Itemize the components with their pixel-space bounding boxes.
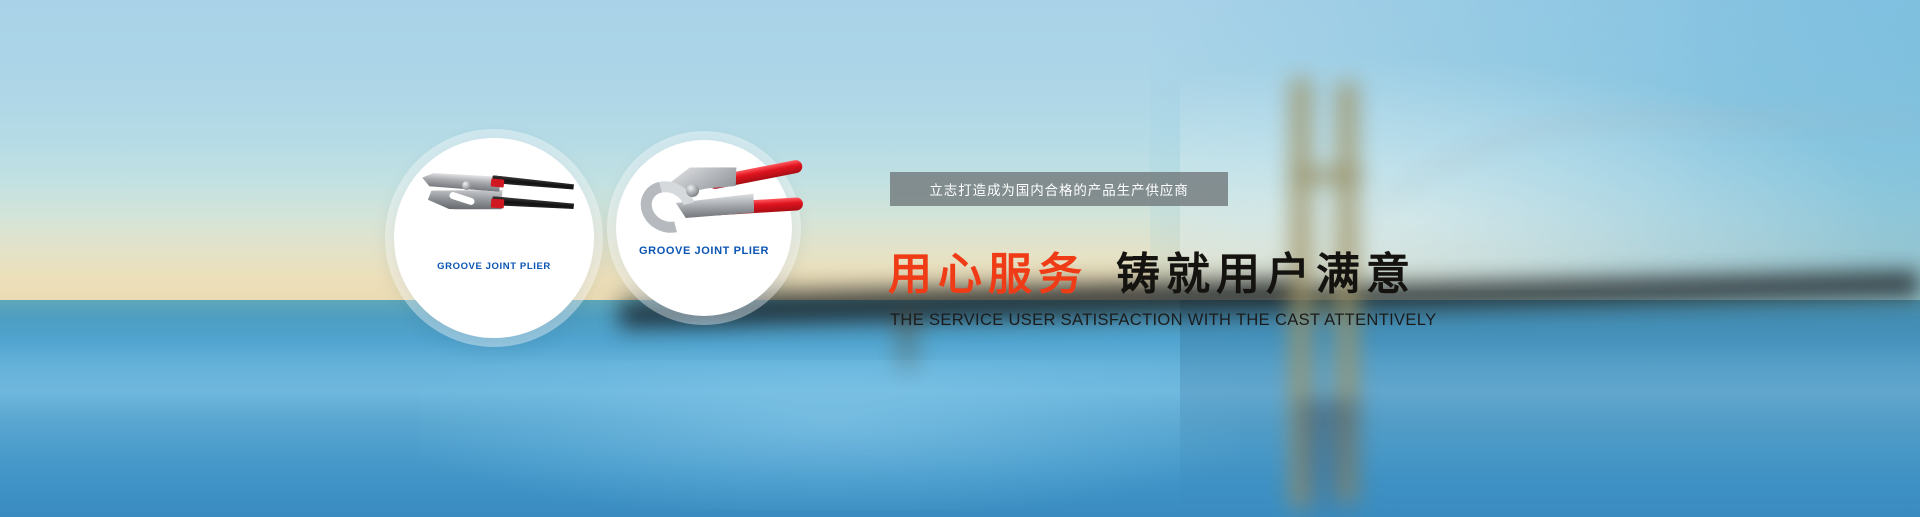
tagline-strip-text: 立志打造成为国内合格的产品生产供应商 (929, 179, 1188, 199)
promotional-banner: GROOVE JOINT PLIER GROOVE JOINT PLIER 立志… (0, 0, 1920, 517)
plier-handle-lower (492, 196, 574, 211)
product-label-2: GROOVE JOINT PLIER (616, 245, 792, 257)
pylon-crossbeam-upper (1290, 168, 1362, 184)
bridge-pier (1298, 400, 1358, 517)
plier-pivot-rivet (686, 184, 699, 197)
plier-pivot-rivet (462, 181, 471, 190)
headline-secondary: 铸就用户满意 (1116, 253, 1416, 297)
headline: 用心服务 铸就用户满意 (888, 253, 1416, 297)
product-circle-2[interactable]: GROOVE JOINT PLIER (616, 140, 792, 316)
tagline-strip: 立志打造成为国内合格的产品生产供应商 (890, 172, 1228, 206)
plier-upper-jaw (422, 171, 501, 191)
subtitle-english: THE SERVICE USER SATISFACTION WITH THE C… (890, 311, 1436, 330)
plier-handle-lower-red-band (491, 199, 505, 209)
product-label-1: GROOVE JOINT PLIER (394, 261, 594, 272)
headline-primary: 用心服务 (888, 253, 1088, 297)
plier-handle-upper (492, 175, 574, 191)
plier-handle-upper-red-band (491, 178, 505, 187)
product-circle-1[interactable]: GROOVE JOINT PLIER (394, 138, 594, 338)
